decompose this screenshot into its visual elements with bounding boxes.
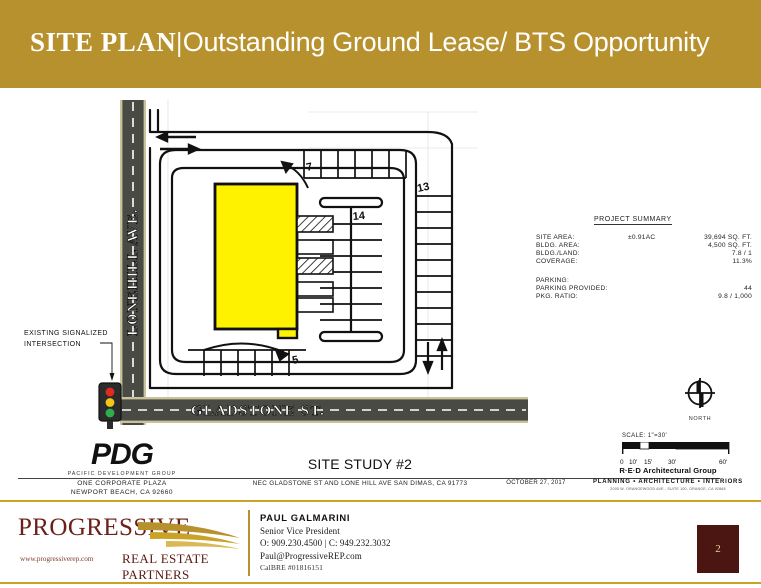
svg-text:EXISTING SIGNALIZED: EXISTING SIGNALIZED — [24, 330, 108, 337]
pdg-address: ONE CORPORATE PLAZA NEWPORT BEACH, CA 92… — [44, 480, 200, 498]
progressive-tagline: REAL ESTATE PARTNERS — [122, 551, 246, 583]
progressive-url[interactable]: www.progressiverep.com — [20, 555, 93, 563]
row-mid — [628, 241, 674, 249]
contact-phones[interactable]: O: 909.230.4500 | C: 949.232.3032 — [260, 538, 478, 548]
page-title-serif: SITE PLAN — [30, 27, 176, 57]
slide-body: 7 13 14 5 LONEHILL AVE. GLADSTONE ST. EX… — [0, 88, 761, 500]
footer: PROGRESSIVE REAL ESTATE PARTNERS www.pro… — [0, 500, 761, 588]
row-mid — [628, 292, 674, 300]
row-label: PARKING: — [536, 276, 628, 284]
row-value: 4,500 SQ. FT. — [674, 241, 752, 249]
parking-stalls-top — [304, 150, 406, 178]
scale-title: SCALE: 1"=30' — [618, 433, 746, 439]
architect-address: 2005 W. ORANGEWOOD AVE., SUITE 100, ORAN… — [588, 487, 748, 491]
row-mid: ±0.91AC — [628, 233, 674, 241]
svg-text:INTERSECTION: INTERSECTION — [24, 341, 81, 348]
table-row: PARKING PROVIDED: 44 — [536, 284, 752, 292]
table-row: SITE AREA: ±0.91AC 39,694 SQ. FT. — [536, 233, 752, 241]
page-number-badge: 2 — [697, 525, 739, 573]
pdg-address-line1: ONE CORPORATE PLAZA — [44, 480, 200, 489]
street-label-lonehill: LONEHILL AVE. — [125, 208, 141, 335]
project-summary-table: SITE AREA: ±0.91AC 39,694 SQ. FT. BLDG. … — [536, 233, 752, 301]
hatched-areas — [297, 216, 333, 312]
row-label: COVERAGE: — [536, 258, 628, 266]
signalized-intersection-annotation: EXISTING SIGNALIZED INTERSECTION — [24, 330, 115, 381]
architect-services: PLANNING • ARCHITECTURE • INTERIORS — [588, 479, 748, 485]
stall-count-2: 14 — [352, 210, 366, 223]
pad-a-building — [215, 184, 297, 338]
contact-email[interactable]: Paul@ProgressiveREP.com — [260, 551, 478, 561]
project-summary: PROJECT SUMMARY SITE AREA: ±0.91AC 39,69… — [536, 216, 752, 301]
page-title-sans: Outstanding Ground Lease/ BTS Opportunit… — [183, 27, 710, 57]
row-label: BLDG./LAND: — [536, 249, 628, 257]
table-row: PKG. RATIO: 9.8 / 1,000 — [536, 292, 752, 300]
table-row: BLDG. AREA: 4,500 SQ. FT. — [536, 241, 752, 249]
stall-count-0: 7 — [305, 161, 313, 174]
project-summary-title: PROJECT SUMMARY — [594, 216, 672, 225]
row-mid — [628, 249, 674, 257]
pdg-logo: PDG PACIFIC DEVELOPMENT GROUP — [44, 440, 200, 477]
study-title: SITE STUDY #2 — [205, 456, 515, 472]
row-mid — [628, 258, 674, 266]
footer-bottom-rule — [0, 582, 761, 584]
row-label: PARKING PROVIDED: — [536, 284, 628, 292]
table-row: COVERAGE: 11.3% — [536, 258, 752, 266]
page-title: SITE PLAN|Outstanding Ground Lease/ BTS … — [30, 27, 709, 58]
table-spacer — [536, 266, 752, 276]
stall-count-3: 5 — [291, 354, 299, 367]
row-value — [674, 276, 752, 284]
architect-block: R·E·D Architectural Group PLANNING • ARC… — [588, 466, 748, 491]
contact-card: PAUL GALMARINI Senior Vice President O: … — [248, 510, 478, 576]
row-value: 44 — [674, 284, 752, 292]
row-label: SITE AREA: — [536, 233, 628, 241]
row-value: 11.3% — [674, 258, 752, 266]
header-bar: SITE PLAN|Outstanding Ground Lease/ BTS … — [0, 0, 761, 88]
stall-count-1: 13 — [416, 181, 430, 195]
pdg-wordmark: PDG — [44, 440, 200, 470]
north-label: NORTH — [672, 416, 728, 422]
row-mid — [628, 284, 674, 292]
architect-name: R·E·D Architectural Group — [588, 466, 748, 475]
table-row: PARKING: — [536, 276, 752, 284]
row-value: 7.8 / 1 — [674, 249, 752, 257]
site-plan-drawing: 7 13 14 5 LONEHILL AVE. GLADSTONE ST. EX… — [8, 92, 528, 472]
footer-top-rule — [0, 500, 761, 502]
swoosh-icon — [136, 516, 246, 552]
title-block: PDG PACIFIC DEVELOPMENT GROUP ONE CORPOR… — [0, 440, 761, 500]
driveway-arrows-top — [158, 133, 198, 153]
north-arrow-block: NORTH — [672, 376, 728, 422]
contact-title: Senior Vice President — [260, 526, 478, 536]
progressive-logo[interactable]: PROGRESSIVE REAL ESTATE PARTNERS www.pro… — [18, 510, 246, 572]
contact-name: PAUL GALMARINI — [260, 512, 478, 523]
contact-license: CalBRE #01816151 — [260, 563, 478, 572]
north-arrow-icon — [683, 376, 717, 410]
study-date: OCTOBER 27, 2017 — [476, 480, 596, 486]
row-value: 9.8 / 1,000 — [674, 292, 752, 300]
row-value: 39,694 SQ. FT. — [674, 233, 752, 241]
row-label: PKG. RATIO: — [536, 292, 628, 300]
traffic-light-icon — [99, 383, 121, 429]
table-row: BLDG./LAND: 7.8 / 1 — [536, 249, 752, 257]
row-mid — [628, 276, 674, 284]
pdg-tagline: PACIFIC DEVELOPMENT GROUP — [44, 471, 200, 477]
study-title-block: SITE STUDY #2 — [205, 456, 515, 472]
pdg-address-line2: NEWPORT BEACH, CA 92660 — [44, 489, 200, 498]
row-label: BLDG. AREA: — [536, 241, 628, 249]
parking-stalls-right — [416, 196, 452, 356]
street-label-gladstone: GLADSTONE ST. — [191, 403, 325, 419]
